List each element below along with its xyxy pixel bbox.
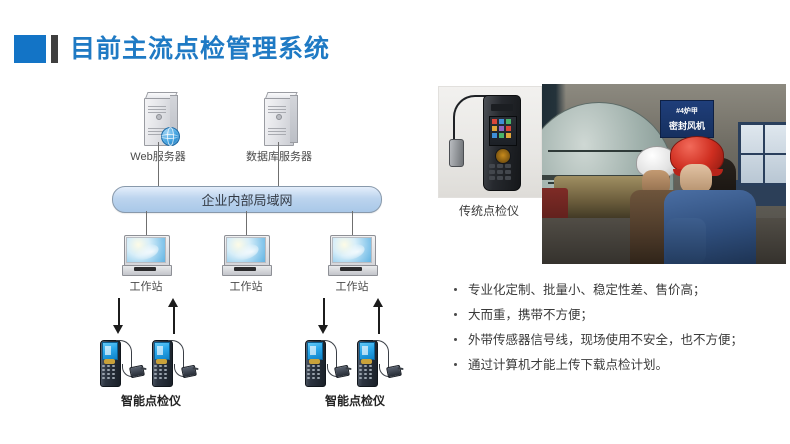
bullet-dot-icon [454, 338, 457, 341]
list-item: 外带传感器信号线，现场使用不安全，也不方便； [450, 332, 780, 349]
equipment-sign: #4炉甲 密封风机 [660, 100, 714, 138]
workstation-2-icon [222, 235, 270, 275]
workstation-1-label: 工作站 [110, 278, 182, 294]
connector-db-to-lan [278, 142, 279, 186]
list-item: 通过计算机才能上传下载点检计划。 [450, 357, 780, 374]
handheld-pda-icon-right-1 [305, 338, 351, 386]
workstation-1-icon [122, 235, 170, 275]
bullet-dot-icon [454, 288, 457, 291]
lan-bar: 企业内部局域网 [112, 186, 382, 213]
lan-label: 企业内部局域网 [113, 187, 381, 212]
worker-red-helmet [660, 136, 756, 264]
handheld-pda-icon-left-2 [152, 338, 198, 386]
bullet-dot-icon [454, 363, 457, 366]
arrow-down-icon-left-1 [113, 298, 124, 334]
traditional-device-photo [438, 86, 542, 198]
arrow-up-icon-left-1 [168, 298, 179, 334]
equipment-sign-line1: #4炉甲 [661, 106, 713, 116]
title-square-accent-icon [14, 35, 46, 63]
database-server-label: 数据库服务器 [228, 148, 330, 164]
handheld-pda-icon-left-1 [100, 338, 146, 386]
title-bar-accent-icon [51, 35, 58, 63]
database-server-icon [258, 92, 298, 144]
page-title: 目前主流点检管理系统 [70, 28, 330, 70]
slide-title-row: 目前主流点检管理系统 [0, 28, 790, 72]
equipment-sign-line2: 密封风机 [661, 119, 713, 132]
list-item-text: 专业化定制、批量小、稳定性差、售价高； [468, 282, 780, 299]
connector-lan-to-ws1 [146, 211, 147, 235]
arrow-up-icon-right-1 [373, 298, 384, 334]
slide-canvas: 目前主流点检管理系统 Web服务器 [0, 0, 790, 444]
connector-web-to-lan [158, 142, 159, 186]
list-item: 大而重，携带不方便； [450, 307, 780, 324]
connector-lan-to-ws2 [246, 211, 247, 235]
field-site-photo: #4炉甲 密封风机 [542, 84, 786, 264]
network-diagram: Web服务器 数据库服务器 企业内部局域网 工作 [0, 80, 430, 440]
drawbacks-bullet-list: 专业化定制、批量小、稳定性差、售价高； 大而重，携带不方便； 外带传感器信号线，… [450, 282, 780, 382]
workstation-3-label: 工作站 [316, 278, 388, 294]
arrow-down-icon-right-1 [318, 298, 329, 334]
web-server-icon [138, 92, 178, 144]
right-column: 传统点检仪 #4炉甲 密封风机 [430, 80, 790, 440]
handheld-group-2-label: 智能点检仪 [300, 392, 410, 409]
connector-lan-to-ws3 [352, 211, 353, 235]
handheld-group-1-label: 智能点检仪 [96, 392, 206, 409]
traditional-device-caption: 传统点检仪 [438, 202, 540, 219]
bullet-dot-icon [454, 313, 457, 316]
workstation-2-label: 工作站 [210, 278, 282, 294]
globe-icon [161, 127, 180, 146]
list-item-text: 大而重，携带不方便； [468, 307, 780, 324]
handheld-pda-icon-right-2 [357, 338, 403, 386]
list-item: 专业化定制、批量小、稳定性差、售价高； [450, 282, 780, 299]
workstation-3-icon [328, 235, 376, 275]
list-item-text: 通过计算机才能上传下载点检计划。 [468, 357, 780, 374]
list-item-text: 外带传感器信号线，现场使用不安全，也不方便； [468, 332, 780, 349]
